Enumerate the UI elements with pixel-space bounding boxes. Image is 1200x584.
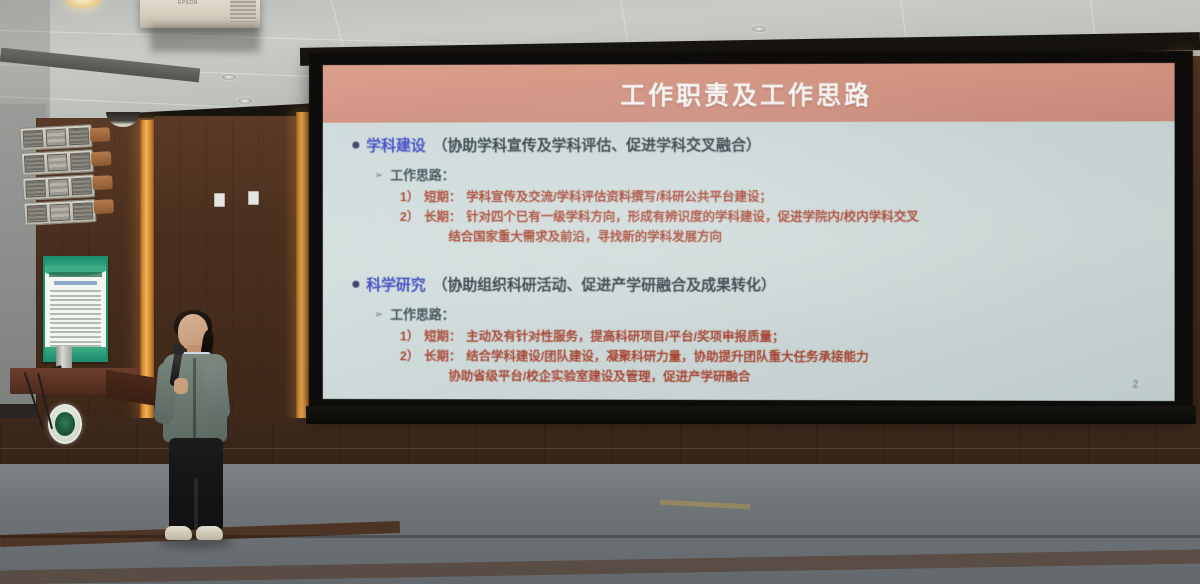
projector-vent bbox=[230, 0, 256, 22]
item-term: 长期： bbox=[424, 347, 461, 365]
slide-section-1-item-2: 2） 长期： 针对四个已有一级学科方向，形成有辨识度的学科建设，促进学院内/校内… bbox=[352, 208, 1164, 226]
slide-page-number: 2 bbox=[1133, 380, 1139, 391]
slide-section-2-item-1: 1） 短期： 主动及有针对性服务，提高科研项目/平台/奖项申报质量； bbox=[352, 327, 1164, 346]
section-heading-note: （协助学科宣传及学科评估、促进学科交叉融合） bbox=[433, 134, 761, 155]
downlight-icon bbox=[752, 26, 766, 32]
slide-title: 工作职责及工作思路 bbox=[323, 75, 1175, 113]
presenter-hand bbox=[174, 378, 188, 394]
poster-header-band bbox=[45, 258, 106, 270]
slide-section-1-sub: ➢ 工作思路： bbox=[352, 164, 1164, 184]
slide-section-1: 学科建设 （协助学科宣传及学科评估、促进学科交叉融合） bbox=[352, 133, 1164, 155]
projector-brand-label: EPSON bbox=[178, 0, 198, 6]
item-text: 结合学科建设/团队建设，凝聚科研力量，协助提升团队重大任务承接能力 bbox=[466, 348, 868, 367]
detail-row: 1） 短期： 学科宣传及交流/学科评估资料撰写/科研公共平台建设； bbox=[400, 188, 1165, 207]
sub-heading-row: ➢ 工作思路： bbox=[374, 164, 1164, 184]
detail-continuation: 协助省级平台/校企实验室建设及管理，促进产学研融合 bbox=[448, 367, 1164, 387]
item-number: 2） bbox=[400, 208, 419, 226]
bullet-dot-icon bbox=[352, 281, 359, 288]
presenter-trousers bbox=[169, 438, 223, 530]
section-heading-row: 学科建设 （协助学科宣传及学科评估、促进学科交叉融合） bbox=[352, 133, 1164, 155]
detail-continuation: 结合国家重大需求及前沿，寻找新的学科发展方向 bbox=[448, 228, 1164, 246]
item-number: 1） bbox=[400, 188, 419, 206]
section-heading-note: （协助组织科研活动、促进产学研融合及成果转化） bbox=[433, 274, 776, 295]
conference-hall-scene: EPSON bbox=[0, 0, 1200, 584]
slide-section-1-continuation: 结合国家重大需求及前沿，寻找新的学科发展方向 bbox=[352, 228, 1164, 246]
item-number: 1） bbox=[400, 328, 419, 346]
wall-switch bbox=[214, 193, 225, 207]
detail-row: 2） 长期： 结合学科建设/团队建设，凝聚科研力量，协助提升团队重大任务承接能力 bbox=[400, 347, 1165, 367]
item-text: 主动及有针对性服务，提高科研项目/平台/奖项申报质量； bbox=[466, 328, 784, 347]
poster-footer-band bbox=[45, 347, 106, 360]
projector: EPSON bbox=[140, 0, 260, 28]
section-heading: 学科建设 bbox=[366, 134, 425, 155]
item-term: 长期： bbox=[424, 208, 461, 226]
presenter bbox=[150, 314, 242, 552]
item-term: 短期： bbox=[424, 188, 461, 206]
slide-section-2-item-2: 2） 长期： 结合学科建设/团队建设，凝聚科研力量，协助提升团队重大任务承接能力 bbox=[352, 347, 1164, 367]
arrow-bullet-icon: ➢ bbox=[374, 168, 383, 181]
projection-screen: 工作职责及工作思路 学科建设 （协助学科宣传及学科评估、促进学科交叉融合） ➢ bbox=[323, 63, 1175, 401]
section-heading-row: 科学研究 （协助组织科研活动、促进产学研融合及成果转化） bbox=[352, 274, 1164, 296]
downlight-icon bbox=[222, 74, 236, 80]
wall-switch bbox=[248, 191, 259, 205]
wall-notice-poster bbox=[43, 256, 108, 362]
line-array-speaker bbox=[19, 124, 96, 226]
sub-heading-label: 工作思路： bbox=[390, 164, 454, 183]
floor-marking bbox=[660, 500, 750, 510]
podium-emblem bbox=[48, 404, 82, 444]
slide-section-1-item-1: 1） 短期： 学科宣传及交流/学科评估资料撰写/科研公共平台建设； bbox=[352, 188, 1164, 207]
presenter-shoe-left bbox=[165, 526, 192, 540]
ceiling-lamp-icon bbox=[66, 0, 100, 8]
item-text: 学科宣传及交流/学科评估资料撰写/科研公共平台建设； bbox=[466, 188, 772, 206]
arrow-bullet-icon: ➢ bbox=[374, 308, 383, 321]
poster-subtitle-bar bbox=[54, 281, 97, 285]
projector-shadow bbox=[150, 26, 260, 52]
slide-body: 学科建设 （协助学科宣传及学科评估、促进学科交叉融合） ➢ 工作思路： 1） bbox=[323, 121, 1175, 401]
detail-row: 1） 短期： 主动及有针对性服务，提高科研项目/平台/奖项申报质量； bbox=[400, 328, 1165, 347]
lit-wall-column-mid bbox=[296, 112, 309, 422]
slide-section-2: 科学研究 （协助组织科研活动、促进产学研融合及成果转化） bbox=[352, 274, 1164, 296]
sub-heading-label: 工作思路： bbox=[390, 304, 454, 323]
projection-screen-frame: 工作职责及工作思路 学科建设 （协助学科宣传及学科评估、促进学科交叉融合） ➢ bbox=[309, 51, 1193, 417]
slide-section-2-sub: ➢ 工作思路： bbox=[352, 304, 1164, 324]
poster-title-bar bbox=[49, 272, 102, 277]
item-term: 短期： bbox=[424, 328, 461, 346]
section-heading: 科学研究 bbox=[366, 274, 425, 295]
bullet-dot-icon bbox=[352, 142, 359, 149]
presenter-shoe-right bbox=[196, 526, 223, 540]
sub-heading-row: ➢ 工作思路： bbox=[374, 304, 1164, 324]
detail-row: 2） 长期： 针对四个已有一级学科方向，形成有辨识度的学科建设，促进学院内/校内… bbox=[400, 208, 1165, 226]
slide-section-2-continuation: 协助省级平台/校企实验室建设及管理，促进产学研融合 bbox=[352, 367, 1164, 387]
floor-wood-strip-2 bbox=[0, 550, 1200, 584]
presentation-slide: 工作职责及工作思路 学科建设 （协助学科宣传及学科评估、促进学科交叉融合） ➢ bbox=[323, 63, 1175, 401]
item-text: 针对四个已有一级学科方向，形成有辨识度的学科建设，促进学院内/校内学科交叉 bbox=[466, 208, 919, 226]
screen-bottom-valance bbox=[306, 406, 1196, 424]
downlight-icon bbox=[238, 98, 252, 104]
item-number: 2） bbox=[400, 347, 419, 365]
